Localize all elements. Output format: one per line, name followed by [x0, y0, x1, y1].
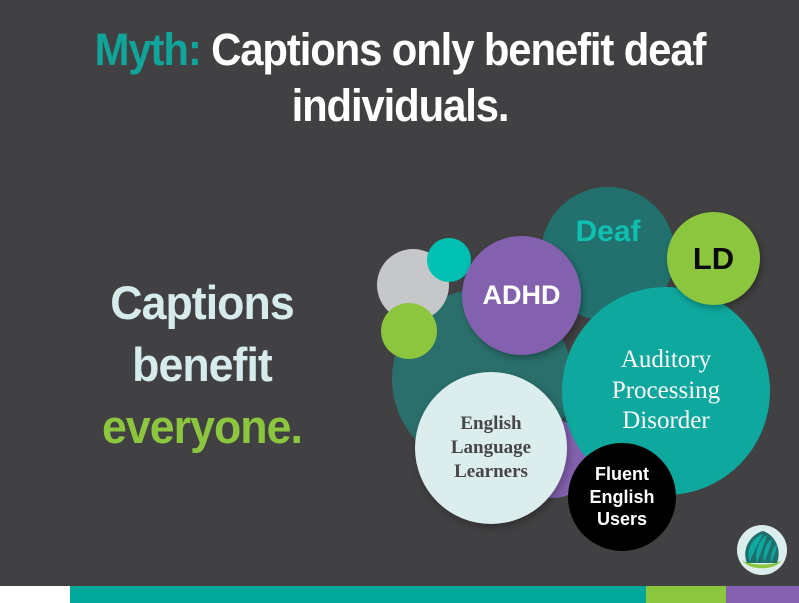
slide-canvas: Myth: Captions only benefit deaf individ…	[0, 0, 799, 603]
bar-segment-purple	[726, 586, 799, 603]
bar-segment-white	[0, 586, 70, 603]
adhd-bubble-label: ADHD	[483, 280, 561, 311]
ell-line-2: Language	[451, 437, 531, 458]
apd-line-1: Auditory	[621, 346, 711, 373]
ell-bubble-label: English Language Learners	[451, 412, 531, 485]
bar-segment-green	[646, 586, 726, 603]
ell-line-3: Learners	[454, 461, 528, 482]
ld-bubble: LD	[667, 212, 760, 305]
feu-line-3: Users	[597, 509, 647, 529]
bubble-cluster: Deaf Auditory Processing Disorder ADHD L…	[0, 0, 799, 603]
feu-line-2: English	[589, 487, 654, 507]
ell-line-1: English	[460, 413, 521, 434]
green-small-bubble	[381, 303, 437, 359]
apd-line-2: Processing	[612, 377, 720, 404]
leaf-logo	[733, 521, 791, 579]
apd-line-3: Disorder	[622, 407, 709, 434]
ld-bubble-label: LD	[693, 241, 734, 277]
apd-bubble-label: Auditory Processing Disorder	[612, 345, 720, 437]
feu-bubble: Fluent English Users	[568, 443, 676, 551]
adhd-bubble: ADHD	[462, 236, 581, 355]
bottom-color-bar	[0, 586, 799, 603]
ell-bubble: English Language Learners	[415, 372, 567, 524]
feu-bubble-label: Fluent English Users	[589, 463, 654, 531]
feu-line-1: Fluent	[595, 464, 649, 484]
bar-segment-teal	[70, 586, 646, 603]
deaf-bubble-label: Deaf	[575, 215, 640, 249]
